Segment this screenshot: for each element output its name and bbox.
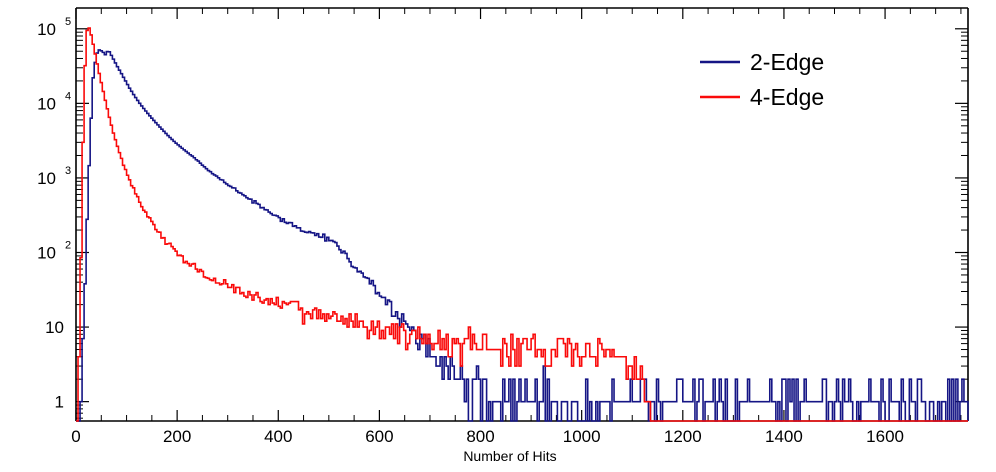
- legend-label-2-edge: 2-Edge: [750, 49, 824, 75]
- x-tick-label: 1600: [866, 427, 904, 446]
- y-axis-labels: 110102103104105: [37, 16, 71, 412]
- x-tick-label: 400: [264, 427, 292, 446]
- x-tick-label: 800: [466, 427, 494, 446]
- chart-canvas: 110102103104105 020040060080010001200140…: [0, 0, 996, 472]
- y-tick-label-exponent: 5: [65, 16, 71, 28]
- x-axis-title: Number of Hits: [463, 448, 556, 464]
- x-tick-label: 1400: [765, 427, 803, 446]
- x-axis-labels: 02004006008001000120014001600: [71, 427, 904, 446]
- y-tick-label: 10: [37, 94, 56, 113]
- x-tick-label: 600: [365, 427, 393, 446]
- histogram-plot: 110102103104105 020040060080010001200140…: [0, 0, 996, 472]
- y-axis-ticks: [76, 29, 968, 418]
- x-tick-label: 1000: [563, 427, 601, 446]
- y-tick-label: 10: [37, 20, 56, 39]
- y-tick-label: 1: [55, 393, 64, 412]
- y-tick-label: 10: [37, 169, 56, 188]
- x-tick-label: 0: [71, 427, 80, 446]
- legend-label-4-edge: 4-Edge: [750, 84, 824, 110]
- x-tick-label: 200: [163, 427, 191, 446]
- y-tick-label: 10: [37, 243, 56, 262]
- series-2-edge: [76, 50, 968, 421]
- series-4-edge: [76, 28, 968, 421]
- y-tick-label-exponent: 4: [65, 90, 71, 102]
- chart-legend: 2-Edge4-Edge: [700, 49, 824, 110]
- y-tick-label: 10: [45, 318, 64, 337]
- y-tick-label-exponent: 3: [65, 165, 71, 177]
- y-tick-label-exponent: 2: [65, 239, 71, 251]
- plot-frame: [76, 8, 968, 421]
- data-series-group: [76, 28, 968, 421]
- x-tick-label: 1200: [664, 427, 702, 446]
